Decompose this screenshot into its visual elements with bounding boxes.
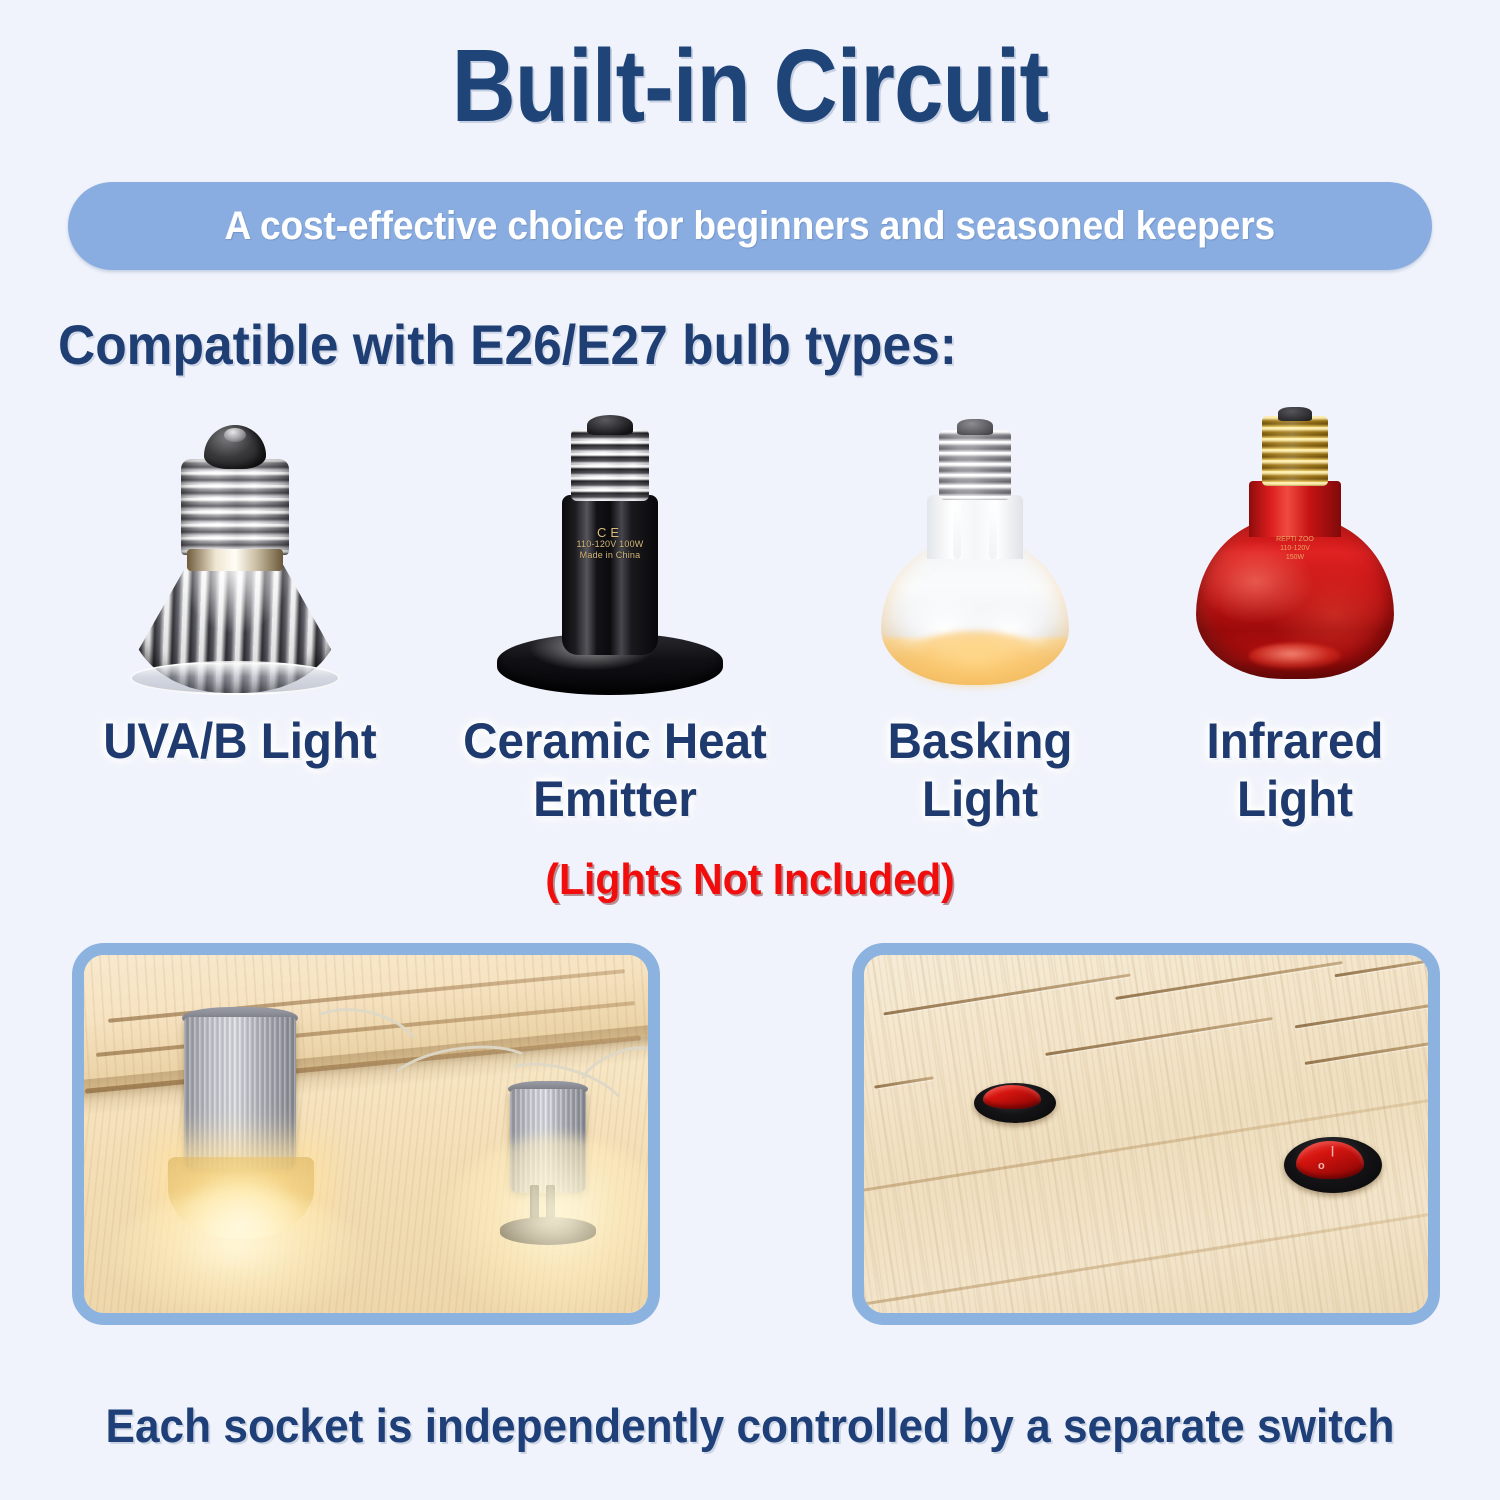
basking-screw-base bbox=[939, 430, 1011, 500]
uva-screw-base bbox=[181, 459, 289, 555]
rocker-switches-photo-content: | o bbox=[864, 955, 1428, 1313]
rocker-switch-2[interactable]: | o bbox=[1284, 1137, 1382, 1193]
page-title: Built-in Circuit bbox=[105, 34, 1395, 137]
switch-off-mark-icon: o bbox=[1318, 1161, 1325, 1172]
basking-contact-tip bbox=[957, 419, 993, 435]
infrared-hotspot bbox=[1249, 643, 1341, 669]
basking-bulb-icon bbox=[880, 419, 1070, 685]
uva-collar bbox=[187, 549, 283, 571]
bulb-label-ceramic: Ceramic Heat Emitter bbox=[444, 712, 786, 828]
rocker-switch-1-rocker[interactable] bbox=[983, 1085, 1041, 1109]
infrared-contact-tip bbox=[1278, 407, 1312, 421]
bulb-label-row: UVA/B Light Ceramic Heat Emitter Basking… bbox=[0, 712, 1500, 842]
bulb-item-infrared: REPTI ZOO 110-120V 150W bbox=[1175, 395, 1415, 710]
ceramic-rating-text: 110-120V 100W bbox=[577, 539, 644, 549]
ceramic-body bbox=[562, 495, 658, 655]
bulb-label-infrared-line1: Infrared bbox=[1153, 712, 1438, 770]
lamp-socket-left-body bbox=[184, 1017, 296, 1169]
bulb-label-ceramic-line1: Ceramic Heat bbox=[444, 712, 786, 770]
uva-reflector-rim bbox=[130, 661, 340, 695]
bulb-label-infrared-line2: Light bbox=[1153, 770, 1438, 828]
uva-contact-tip bbox=[204, 425, 266, 469]
infrared-rating-text: 110-120V bbox=[1280, 545, 1310, 552]
infrared-watt-text: 150W bbox=[1286, 554, 1304, 561]
bulb-gallery: CE 110-120V 100W Made in China REPTI Z bbox=[0, 395, 1500, 710]
light-pool-left bbox=[112, 1191, 362, 1313]
switch-on-mark-icon: | bbox=[1331, 1146, 1334, 1157]
infrared-neck bbox=[1249, 481, 1341, 537]
installed-sockets-photo-content bbox=[84, 955, 648, 1313]
infrared-bulb-icon: REPTI ZOO 110-120V 150W bbox=[1195, 407, 1395, 685]
bulb-label-basking: Basking Light bbox=[838, 712, 1123, 828]
bulb-item-basking bbox=[855, 395, 1095, 710]
bulb-label-ceramic-line2: Emitter bbox=[444, 770, 786, 828]
subtitle-banner: A cost-effective choice for beginners an… bbox=[68, 182, 1432, 270]
uva-contact-dot bbox=[224, 428, 246, 442]
uva-reflector-bulb-icon bbox=[125, 425, 345, 695]
bulb-item-ceramic: CE 110-120V 100W Made in China bbox=[480, 395, 740, 710]
lights-not-included-note: (Lights Not Included) bbox=[53, 855, 1448, 905]
subtitle-text: A cost-effective choice for beginners an… bbox=[225, 204, 1275, 249]
bulb-label-uva: UVA/B Light bbox=[64, 712, 416, 770]
ceramic-contact-tip bbox=[587, 415, 633, 435]
infrared-brass-base bbox=[1262, 416, 1328, 486]
bulb-label-infrared: Infrared Light bbox=[1153, 712, 1438, 828]
basking-neck bbox=[927, 495, 1023, 559]
bulb-label-basking-line2: Light bbox=[838, 770, 1123, 828]
ceramic-print-block: CE 110-120V 100W Made in China bbox=[565, 527, 655, 561]
compatibility-heading: Compatible with E26/E27 bulb types: bbox=[58, 312, 957, 377]
installed-sockets-photo bbox=[72, 943, 660, 1325]
ceramic-origin-text: Made in China bbox=[580, 550, 641, 560]
lamp-socket-left bbox=[170, 1007, 310, 1207]
bottom-caption: Each socket is independently controlled … bbox=[45, 1398, 1455, 1453]
rocker-switch-1[interactable] bbox=[974, 1083, 1056, 1123]
ceramic-heat-emitter-icon: CE 110-120V 100W Made in China bbox=[495, 415, 725, 695]
infrared-brand-text: REPTI ZOO bbox=[1276, 536, 1314, 543]
ceramic-screw-base bbox=[571, 429, 649, 501]
bulb-item-uva bbox=[105, 395, 365, 710]
rocker-switches-photo: | o bbox=[852, 943, 1440, 1325]
bulb-label-basking-line1: Basking bbox=[838, 712, 1123, 770]
basking-glow bbox=[900, 631, 1050, 689]
infrared-print-block: REPTI ZOO 110-120V 150W bbox=[1255, 535, 1335, 562]
basking-filament-left bbox=[953, 503, 961, 559]
basking-filament-right bbox=[989, 503, 997, 559]
ce-mark-text: CE bbox=[565, 527, 655, 538]
